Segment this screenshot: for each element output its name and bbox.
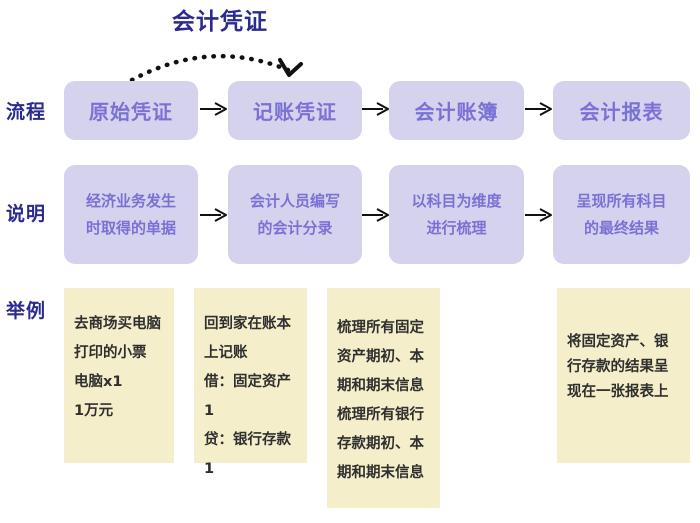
example-box-2-text: 回到家在账本上记账 借：固定资产1 贷：银行存款1 <box>204 310 297 484</box>
flow-box-4[interactable]: 会计报表 <box>553 81 690 140</box>
description-box-3-text: 以科目为维度 进行梳理 <box>405 188 507 242</box>
arrow-right-icon-description-2 <box>361 206 391 224</box>
description-box-1-text: 经济业务发生 时取得的单据 <box>80 188 182 242</box>
page-title: 会计凭证 <box>150 2 290 36</box>
example-box-3-text: 梳理所有固定资产期初、本期和期末信息 梳理所有银行存款期初、本期和期末信息 <box>337 314 430 488</box>
diagram-canvas: 会计凭证 流程 原始凭证 记账凭证 会计账簿 会计报表 说明 经济业务发生 时取… <box>0 0 700 523</box>
arrow-right-icon-flow-1 <box>199 100 229 118</box>
row-label-example: 举例 <box>6 296 62 323</box>
flow-box-3[interactable]: 会计账簿 <box>389 81 524 140</box>
arrow-right-icon-description-1 <box>199 206 229 224</box>
arrow-right-icon-flow-3 <box>524 100 554 118</box>
example-box-1-text: 去商场买电脑打印的小票 电脑x1 1万元 <box>74 310 164 426</box>
row-label-flow: 流程 <box>6 97 62 124</box>
flow-box-2[interactable]: 记账凭证 <box>228 81 362 140</box>
example-box-4[interactable]: 将固定资产、银行存款的结果呈现在一张报表上 <box>557 288 690 463</box>
example-box-3[interactable]: 梳理所有固定资产期初、本期和期末信息 梳理所有银行存款期初、本期和期末信息 <box>327 288 440 508</box>
arrow-right-icon-description-3 <box>524 206 554 224</box>
flow-box-3-label: 会计账簿 <box>415 96 499 125</box>
description-box-1[interactable]: 经济业务发生 时取得的单据 <box>64 165 198 264</box>
example-box-4-text: 将固定资产、银行存款的结果呈现在一张报表上 <box>567 330 680 405</box>
description-box-4-text: 呈现所有科目 的最终结果 <box>570 188 672 242</box>
description-box-4[interactable]: 呈现所有科目 的最终结果 <box>553 165 690 264</box>
flow-box-1[interactable]: 原始凭证 <box>64 81 198 140</box>
description-box-2[interactable]: 会计人员编写 的会计分录 <box>228 165 362 264</box>
description-box-3[interactable]: 以科目为维度 进行梳理 <box>389 165 524 264</box>
row-label-description: 说明 <box>6 199 62 226</box>
flow-box-1-label: 原始凭证 <box>89 96 173 125</box>
flow-box-2-label: 记账凭证 <box>253 96 337 125</box>
example-box-2[interactable]: 回到家在账本上记账 借：固定资产1 贷：银行存款1 <box>194 288 307 463</box>
arrow-right-icon-flow-2 <box>361 100 391 118</box>
description-box-2-text: 会计人员编写 的会计分录 <box>244 188 346 242</box>
example-box-1[interactable]: 去商场买电脑打印的小票 电脑x1 1万元 <box>64 288 174 463</box>
flow-box-4-label: 会计报表 <box>580 96 664 125</box>
